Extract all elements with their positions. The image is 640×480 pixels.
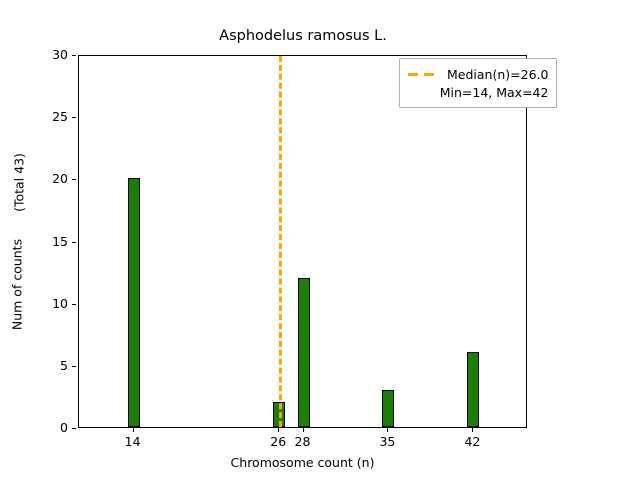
y-tick-mark (72, 55, 76, 56)
y-tick-label: 10 (40, 297, 68, 310)
y-axis-label-group: Num of counts (Total 43) (0, 0, 30, 480)
x-axis-label: Chromosome count (n) (78, 455, 527, 470)
bar (298, 278, 310, 427)
y-tick-label: 25 (40, 110, 68, 123)
y-tick-label: 15 (40, 235, 68, 248)
bar (467, 352, 479, 427)
bar (128, 178, 140, 427)
y-tick-mark (72, 117, 76, 118)
dashed-line-icon (407, 65, 439, 83)
x-tick-label: 14 (113, 435, 153, 449)
y-axis-total-label: (Total 43) (12, 133, 27, 233)
legend-item-range: Min=14, Max=42 (407, 83, 548, 101)
median-line (279, 56, 282, 427)
y-tick-mark (72, 242, 76, 243)
x-tick-mark (387, 428, 388, 432)
x-tick-mark (133, 428, 134, 432)
x-tick-mark (278, 428, 279, 432)
y-tick-mark (72, 428, 76, 429)
chart-title: Asphodelus ramosus L. (0, 27, 623, 45)
y-tick-label: 5 (40, 359, 68, 372)
y-tick-label: 0 (40, 421, 68, 434)
y-tick-mark (72, 179, 76, 180)
x-tick-label: 35 (367, 435, 407, 449)
x-tick-label: 28 (283, 435, 323, 449)
x-tick-mark (303, 428, 304, 432)
chart-figure: Asphodelus ramosus L. Num of counts (Tot… (0, 0, 640, 480)
legend-item-median: Median(n)=26.0 (407, 65, 548, 83)
y-tick-label: 30 (40, 48, 68, 61)
bar (382, 390, 394, 427)
x-tick-label: 42 (452, 435, 492, 449)
legend-label-range: Min=14, Max=42 (440, 85, 549, 100)
x-tick-mark (472, 428, 473, 432)
y-tick-mark (72, 366, 76, 367)
y-tick-mark (72, 304, 76, 305)
legend-label-median: Median(n)=26.0 (447, 67, 548, 82)
legend: Median(n)=26.0 Min=14, Max=42 (399, 58, 557, 108)
y-tick-label: 20 (40, 172, 68, 185)
plot-area (78, 55, 527, 428)
